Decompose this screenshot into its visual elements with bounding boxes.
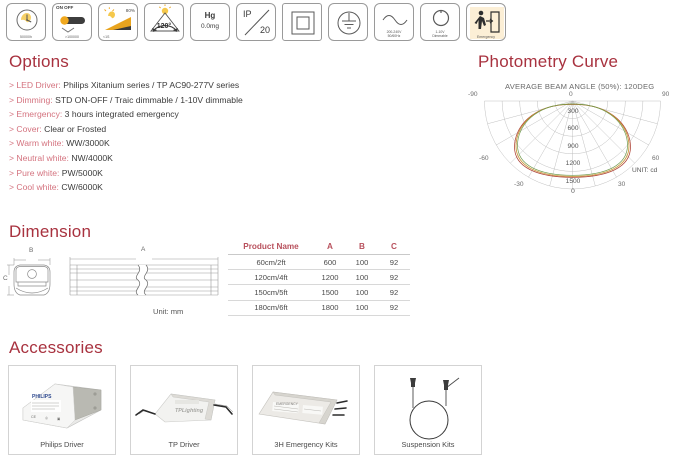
philips-driver-image: PHILIPS CE◎▣ bbox=[9, 370, 117, 440]
mercury-free-icon: Hg 0.0mg bbox=[190, 3, 230, 41]
options-heading: Options bbox=[9, 52, 69, 72]
startup-time-caption: <1S bbox=[103, 36, 137, 39]
option-value: 3 hours integrated emergency bbox=[65, 109, 179, 119]
photometry-subtitle: AVERAGE BEAM ANGLE (50%): 120DEG bbox=[505, 82, 654, 91]
emergency-caption: Emergency bbox=[467, 36, 505, 39]
voltage-frequency: 50/60Hz bbox=[388, 34, 401, 38]
cell-a: 1500 bbox=[314, 285, 346, 300]
option-item: > Dimming: STD ON-OFF / Traic dimmable /… bbox=[9, 93, 349, 108]
accessory-caption: Suspension Kits bbox=[375, 440, 481, 449]
angle-label-minus60: -60 bbox=[479, 155, 489, 162]
dimmable-icon: 1-10V Dimmable bbox=[420, 3, 460, 41]
photometry-polar-chart: -90 -60 -30 0 30 60 90 300 600 900 1200 … bbox=[470, 93, 675, 198]
dimension-callout-b: B bbox=[29, 247, 33, 254]
option-value: STD ON-OFF / Traic dimmable / 1-10V dimm… bbox=[55, 95, 243, 105]
switch-on-off-label: ON OFF bbox=[56, 5, 73, 10]
option-value: Philips Xitanium series / TP AC90-277V s… bbox=[63, 80, 239, 90]
table-header-row: Product Name A B C bbox=[228, 240, 410, 255]
options-list: > LED Driver: Philips Xitanium series / … bbox=[9, 78, 349, 195]
accessory-card-philips-driver[interactable]: PHILIPS CE◎▣ Philips Driver bbox=[8, 365, 116, 455]
accessory-card-tp-driver[interactable]: TPLighting TP Driver bbox=[130, 365, 238, 455]
radial-label-300: 300 bbox=[558, 108, 588, 115]
cell-c: 92 bbox=[378, 270, 410, 285]
dimension-unit-note: Unit: mm bbox=[153, 307, 183, 316]
beam-angle-value: 120° bbox=[145, 23, 183, 30]
option-key: > LED Driver: bbox=[9, 80, 61, 90]
svg-text:CE: CE bbox=[31, 415, 37, 419]
angle-label-90: 90 bbox=[662, 91, 669, 98]
svg-text:▣: ▣ bbox=[57, 417, 61, 421]
radial-label-1500: 1500 bbox=[558, 178, 588, 185]
fixture-drawing-svg bbox=[6, 248, 226, 314]
column-a: A bbox=[314, 240, 346, 255]
photometry-unit-label: UNIT: cd bbox=[632, 167, 657, 174]
option-value: NW/4000K bbox=[71, 153, 113, 163]
svg-text:TPLighting: TPLighting bbox=[175, 408, 204, 414]
table-row: 150cm/5ft 1500 100 92 bbox=[228, 285, 410, 300]
accessory-caption: 3H Emergency Kits bbox=[253, 440, 359, 449]
dimension-drawing: B C A bbox=[6, 248, 226, 319]
switch-cycles-caption: >100000 bbox=[53, 36, 91, 39]
angle-label-minus30: -30 bbox=[514, 181, 524, 188]
dimension-callout-c: C bbox=[3, 275, 8, 282]
option-item: > Cover: Clear or Frosted bbox=[9, 122, 349, 137]
dimension-table: Product Name A B C 60cm/2ft 600 100 92 1… bbox=[228, 240, 410, 316]
option-key: > Pure white: bbox=[9, 168, 59, 178]
option-value: Clear or Frosted bbox=[44, 124, 106, 134]
cell-b: 100 bbox=[346, 255, 378, 270]
voltage-caption: 200-240V 50/60Hz bbox=[375, 31, 413, 39]
dimension-heading: Dimension bbox=[9, 222, 91, 242]
option-item: > Emergency: 3 hours integrated emergenc… bbox=[9, 107, 349, 122]
cell-c: 92 bbox=[378, 255, 410, 270]
svg-text:PHILIPS: PHILIPS bbox=[32, 394, 52, 400]
earth-ground-icon bbox=[328, 3, 368, 41]
table-row: 180cm/6ft 1800 100 92 bbox=[228, 300, 410, 315]
ip-rating-icon: IP 20 bbox=[236, 3, 276, 41]
ip-value: 20 bbox=[260, 25, 270, 35]
accessory-caption: Philips Driver bbox=[9, 440, 115, 449]
feature-icon-bar: 50000h ON OFF >100000 80% <1S bbox=[6, 3, 506, 41]
switch-cycles-icon: ON OFF >100000 bbox=[52, 3, 92, 41]
beam-angle-icon: 120° bbox=[144, 3, 184, 41]
option-key: > Cover: bbox=[9, 124, 42, 134]
option-item: > Warm white: WW/3000K bbox=[9, 136, 349, 151]
option-key: > Neutral white: bbox=[9, 153, 69, 163]
accessories-heading: Accessories bbox=[9, 338, 103, 358]
radial-label-900: 900 bbox=[558, 143, 588, 150]
suspension-kit-image bbox=[375, 370, 483, 440]
option-key: > Cool white: bbox=[9, 182, 59, 192]
angle-label-minus90: -90 bbox=[468, 91, 478, 98]
lifetime-icon: 50000h bbox=[6, 3, 46, 41]
cell-product-name: 150cm/5ft bbox=[228, 285, 314, 300]
cell-b: 100 bbox=[346, 270, 378, 285]
option-item: > LED Driver: Philips Xitanium series / … bbox=[9, 78, 349, 93]
tp-driver-image: TPLighting bbox=[131, 370, 239, 440]
dimension-callout-a: A bbox=[141, 246, 145, 253]
cell-product-name: 180cm/6ft bbox=[228, 300, 314, 315]
option-item: > Pure white: PW/5000K bbox=[9, 166, 349, 181]
option-item: > Cool white: CW/6000K bbox=[9, 180, 349, 195]
option-key: > Warm white: bbox=[9, 138, 64, 148]
photometry-heading: Photometry Curve bbox=[478, 52, 618, 72]
startup-time-icon: 80% <1S bbox=[98, 3, 138, 41]
cell-b: 100 bbox=[346, 285, 378, 300]
option-key: > Dimming: bbox=[9, 95, 53, 105]
cell-a: 600 bbox=[314, 255, 346, 270]
emergency-kit-image: EMERGENCY bbox=[253, 370, 361, 440]
emergency-icon: Emergency bbox=[466, 3, 506, 41]
mercury-amount: 0.0mg bbox=[191, 23, 229, 30]
cell-product-name: 120cm/4ft bbox=[228, 270, 314, 285]
voltage-icon: 200-240V 50/60Hz bbox=[374, 3, 414, 41]
accessory-card-suspension-kit[interactable]: Suspension Kits bbox=[374, 365, 482, 455]
option-key: > Emergency: bbox=[9, 109, 62, 119]
radial-label-600: 600 bbox=[558, 125, 588, 132]
option-item: > Neutral white: NW/4000K bbox=[9, 151, 349, 166]
cell-b: 100 bbox=[346, 300, 378, 315]
angle-label-30: 30 bbox=[618, 181, 625, 188]
cell-a: 1800 bbox=[314, 300, 346, 315]
dimmable-caption: 1-10V Dimmable bbox=[421, 31, 459, 39]
accessories-list: PHILIPS CE◎▣ Philips Driver bbox=[8, 365, 482, 455]
accessory-caption: TP Driver bbox=[131, 440, 237, 449]
column-c: C bbox=[378, 240, 410, 255]
angle-label-zero-top: 0 bbox=[569, 91, 573, 98]
ip-label: IP bbox=[243, 9, 252, 19]
option-value: CW/6000K bbox=[61, 182, 103, 192]
startup-80-label: 80% bbox=[126, 8, 135, 13]
accessory-card-emergency-kit[interactable]: EMERGENCY 3H Emergency Kits bbox=[252, 365, 360, 455]
cell-a: 1200 bbox=[314, 270, 346, 285]
dimmable-label: Dimmable bbox=[432, 34, 447, 38]
mercury-symbol: Hg bbox=[191, 11, 229, 20]
column-b: B bbox=[346, 240, 378, 255]
cell-c: 92 bbox=[378, 300, 410, 315]
lifetime-caption: 50000h bbox=[7, 36, 45, 39]
radial-label-1200: 1200 bbox=[558, 160, 588, 167]
table-row: 60cm/2ft 600 100 92 bbox=[228, 255, 410, 270]
cell-product-name: 60cm/2ft bbox=[228, 255, 314, 270]
svg-text:EMERGENCY: EMERGENCY bbox=[276, 402, 299, 406]
option-value: WW/3000K bbox=[66, 138, 109, 148]
angle-label-60: 60 bbox=[652, 155, 659, 162]
cell-c: 92 bbox=[378, 285, 410, 300]
column-product-name: Product Name bbox=[228, 240, 314, 255]
angle-label-zero-bottom: 0 bbox=[558, 188, 588, 195]
table-row: 120cm/4ft 1200 100 92 bbox=[228, 270, 410, 285]
option-value: PW/5000K bbox=[62, 168, 103, 178]
class-ii-icon bbox=[282, 3, 322, 41]
